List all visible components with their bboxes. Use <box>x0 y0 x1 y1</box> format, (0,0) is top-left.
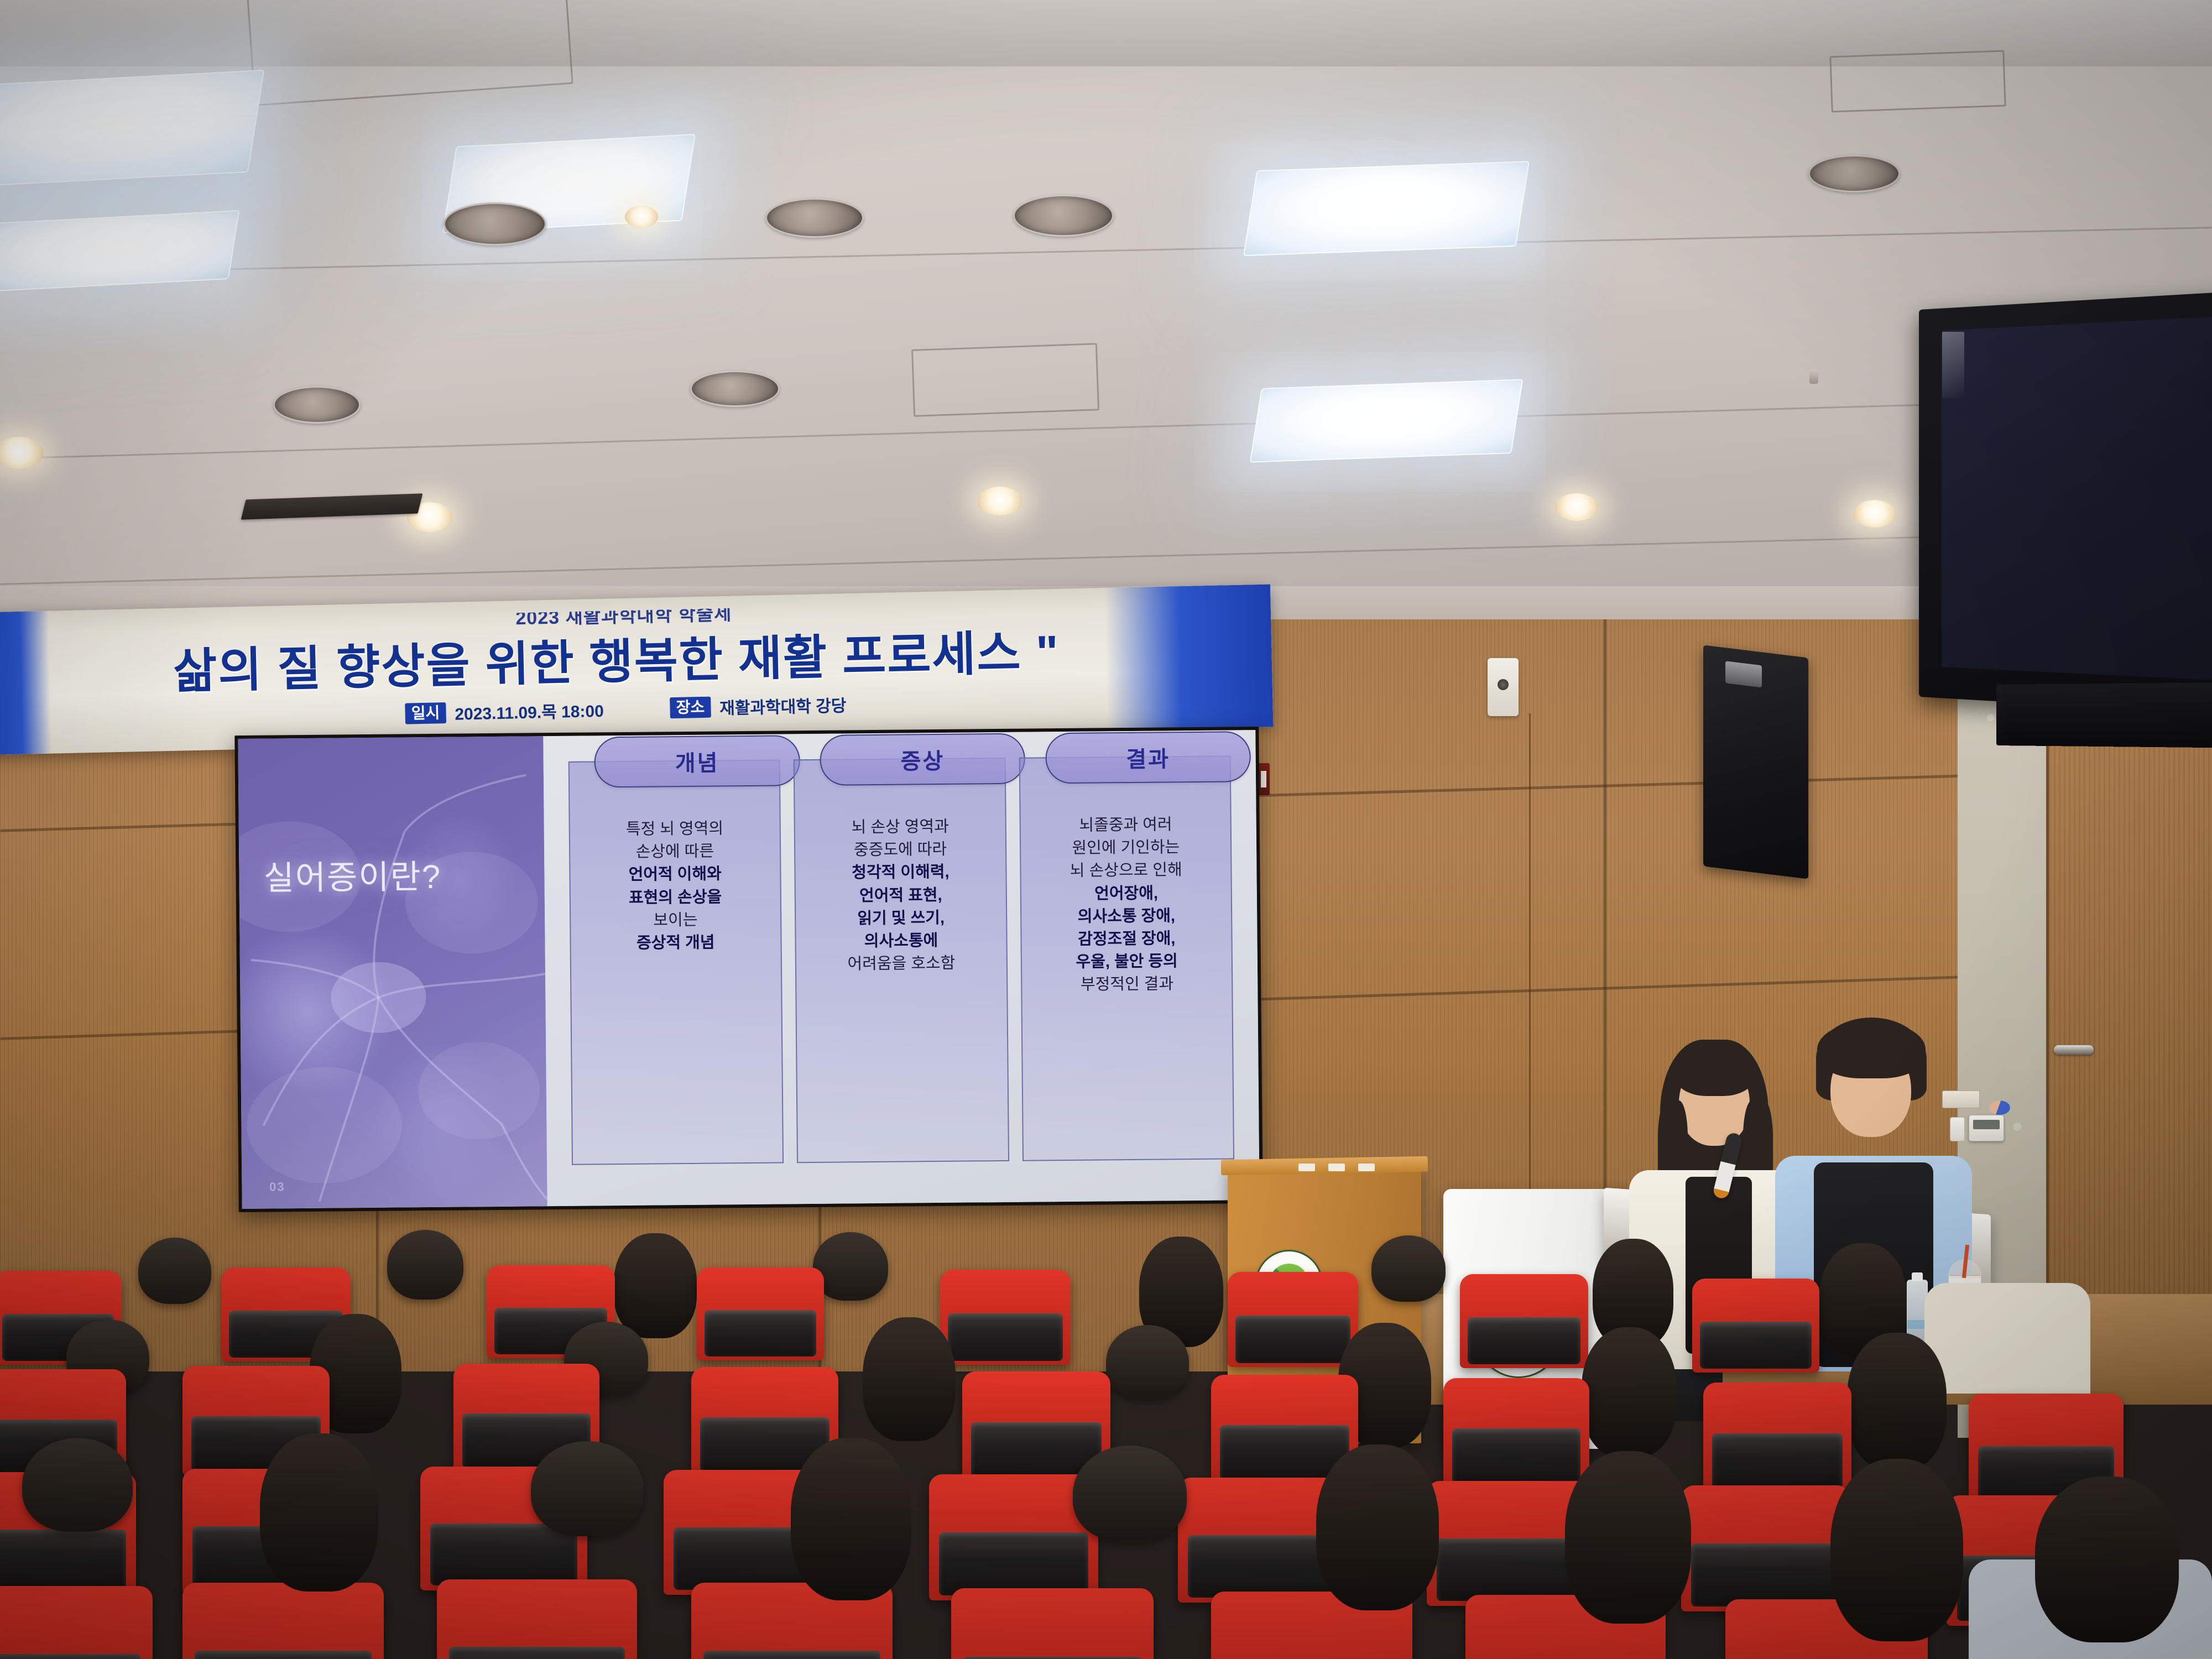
slide-line: 원인에 기인하는 <box>1026 836 1225 860</box>
wall-sticker-icon <box>1989 1100 2010 1115</box>
slide-line: 언어적 이해와 <box>576 863 775 887</box>
slide-content-panel: 개념 특정 뇌 영역의 손상에 따른 언어적 이해와 표현의 손상을 보이는 증… <box>543 730 1259 1206</box>
banner-place-tag: 장소 <box>670 697 711 719</box>
ceiling-downlight <box>1854 500 1896 528</box>
banner-place-group: 장소 재활과학대학 강당 <box>670 692 847 720</box>
wall-motion-sensor <box>1488 658 1519 716</box>
ceiling-led-panel <box>0 210 240 292</box>
sprinkler-head <box>1809 369 1818 384</box>
seat[interactable] <box>0 1586 153 1659</box>
slide-line: 뇌 손상으로 인해 <box>1026 859 1225 883</box>
slide-line: 부정적인 결과 <box>1027 973 1227 997</box>
neuron-background-icon <box>238 736 547 1202</box>
ceiling-air-vent <box>241 493 423 520</box>
slide-column-results: 결과 뇌졸중과 여러 원인에 기인하는 뇌 손상으로 인해 언어장애, 의사소통… <box>1019 755 1235 1161</box>
slide-line: 언어장애, <box>1027 881 1226 906</box>
banner-date-value: 2023.11.09.목 18:00 <box>455 697 604 725</box>
slide-line: 감정조절 장애, <box>1027 927 1227 951</box>
banner-place-value: 재활과학대학 강당 <box>719 692 847 719</box>
ceiling-downlight <box>1555 493 1598 521</box>
slide-title-panel: 실어증이란? 03 <box>238 736 547 1209</box>
ceiling-downlight <box>0 437 43 469</box>
seat[interactable] <box>1460 1274 1588 1368</box>
slide-line: 손상에 따른 <box>576 840 775 864</box>
slide-line: 표현의 손상을 <box>576 885 775 910</box>
ceiling-led-panel <box>1243 161 1530 256</box>
slide-line: 언어적 표현, <box>801 884 1000 908</box>
slide-column-concept: 개념 특정 뇌 영역의 손상에 따른 언어적 이해와 표현의 손상을 보이는 증… <box>568 759 784 1165</box>
ceiling-access-hatch <box>246 0 573 106</box>
ceiling-access-hatch <box>911 343 1099 417</box>
seat[interactable] <box>1692 1279 1819 1373</box>
emergency-exit-marker <box>1258 763 1270 795</box>
slide-column-cap: 개념 <box>594 735 800 787</box>
seat[interactable] <box>697 1267 824 1360</box>
tv-mount-base <box>1996 682 2212 748</box>
slide-line: 뇌졸중과 여러 <box>1026 813 1225 837</box>
ceiling-speaker <box>690 371 780 407</box>
seat[interactable] <box>1443 1378 1589 1488</box>
ceiling <box>0 0 2212 619</box>
slide-column-body: 뇌 손상 영역과 중증도에 따라 청각적 이해력, 언어적 표현, 읽기 및 쓰… <box>795 805 1006 977</box>
ceiling-speaker <box>1013 195 1114 237</box>
slide-column-symptoms: 증상 뇌 손상 영역과 중증도에 따라 청각적 이해력, 언어적 표현, 읽기 … <box>794 758 1009 1163</box>
slide-line: 보이는 <box>576 908 775 932</box>
tv-bezel-glare <box>1942 332 1964 398</box>
banner-date-tag: 일시 <box>405 702 446 724</box>
slide-line: 중증도에 따라 <box>801 838 1000 862</box>
slide-column-cap: 결과 <box>1045 731 1251 784</box>
slide-line: 증상적 개념 <box>576 931 775 955</box>
slide-line: 의사소통에 <box>802 929 1001 953</box>
seat[interactable] <box>940 1270 1071 1365</box>
slide-column-cap: 증상 <box>820 733 1025 786</box>
ceiling-speaker <box>1808 155 1900 192</box>
audience-seating <box>0 1217 2212 1659</box>
wall-mounted-speaker <box>1703 645 1808 879</box>
ceiling-downlight <box>978 487 1022 515</box>
ceiling-led-panel <box>0 70 264 187</box>
auditorium-photo: 2023 재활과학대학 학술제 삶의 질 향상을 위한 행복한 재활 프로세스 … <box>0 0 2212 1659</box>
ceiling-speaker <box>444 202 546 246</box>
slide-line: 우울, 불안 등의 <box>1027 950 1227 974</box>
ceiling-speaker <box>273 386 361 424</box>
seat[interactable] <box>1228 1272 1358 1367</box>
ceiling-led-panel <box>1249 379 1523 462</box>
slide-line: 읽기 및 쓰기, <box>801 906 1000 931</box>
slide-column-body: 뇌졸중과 여러 원인에 기인하는 뇌 손상으로 인해 언어장애, 의사소통 장애… <box>1021 803 1232 997</box>
slide-line: 특정 뇌 영역의 <box>575 817 774 842</box>
projection-screen: 실어증이란? 03 개념 특정 뇌 영역의 손상에 따른 언어적 이해와 표현의… <box>234 727 1262 1212</box>
slide-page-number: 03 <box>269 1180 285 1194</box>
seat[interactable] <box>1703 1383 1851 1493</box>
seat[interactable] <box>182 1583 384 1659</box>
slide-column-body: 특정 뇌 영역의 손상에 따른 언어적 이해와 표현의 손상을 보이는 증상적 … <box>570 807 780 956</box>
slide-title: 실어증이란? <box>263 850 441 900</box>
slide-line: 뇌 손상 영역과 <box>801 815 1000 839</box>
slide-line: 의사소통 장애, <box>1027 904 1226 928</box>
ceiling-downlight <box>625 206 658 228</box>
slide-line: 청각적 이해력, <box>801 860 1000 885</box>
ceiling-access-hatch <box>1829 50 2006 113</box>
banner-date-group: 일시 2023.11.09.목 18:00 <box>405 697 604 726</box>
presentation-slide: 실어증이란? 03 개념 특정 뇌 영역의 손상에 따른 언어적 이해와 표현의… <box>238 730 1259 1209</box>
slide-line: 어려움을 호소함 <box>802 952 1001 976</box>
door-handle-icon[interactable] <box>2054 1045 2094 1055</box>
tv-screen <box>1942 315 2212 681</box>
ceiling-speaker <box>765 198 864 238</box>
seat[interactable] <box>1681 1485 1850 1611</box>
seat[interactable] <box>951 1588 1154 1659</box>
seat[interactable] <box>437 1579 637 1659</box>
